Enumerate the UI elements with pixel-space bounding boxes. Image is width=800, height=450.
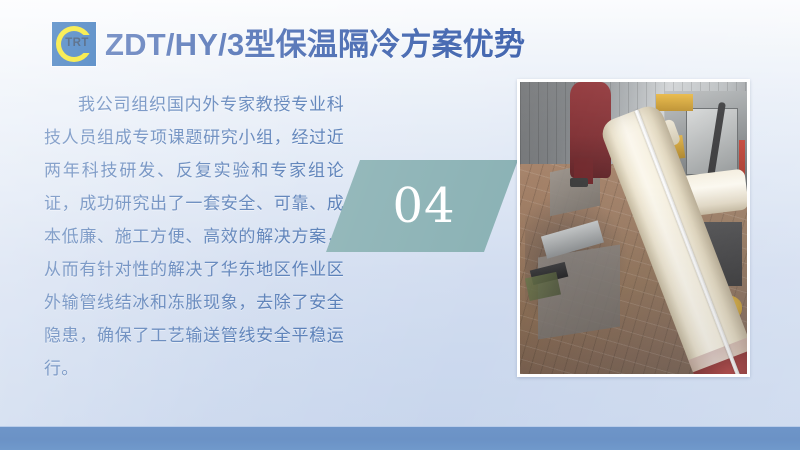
logo-mark-text: TRT — [52, 22, 96, 66]
bottom-accent-band — [0, 426, 800, 450]
site-photo-frame — [517, 79, 750, 377]
photo-tone-overlay — [520, 82, 747, 374]
site-photo — [520, 82, 747, 374]
trt-c-ring-logo-icon: TRT — [52, 22, 96, 66]
section-number-text: 04 — [326, 160, 518, 252]
page-title: ZDT/HY/3型保温隔冷方案优势 — [105, 29, 525, 60]
slide-root: TRT ZDT/HY/3型保温隔冷方案优势 我公司组织国内外专家教授专业科技人员… — [0, 0, 800, 450]
slide-header: TRT ZDT/HY/3型保温隔冷方案优势 — [52, 22, 525, 66]
body-paragraph: 我公司组织国内外专家教授专业科技人员组成专项课题研究小组，经过近两年科技研发、反… — [44, 88, 344, 385]
section-number-badge: 04 — [326, 160, 518, 252]
